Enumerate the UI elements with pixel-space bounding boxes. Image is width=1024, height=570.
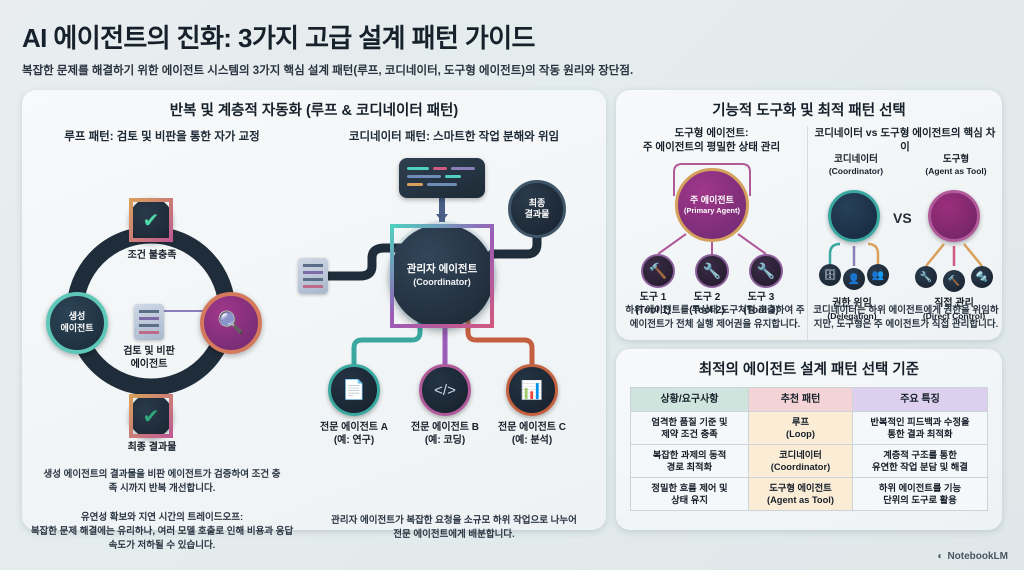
loop-note-2-body: 복잡한 문제 해결에는 유리하나, 여러 모델 호출로 인해 비용과 응답 속도…: [31, 526, 293, 551]
comparison-note: 코디네이터는 하위 에이전트에게 권한을 위임하지만, 도구형은 주 에이전트가…: [812, 304, 1000, 332]
coordinator-label-ko: 관리자 에이전트: [407, 263, 478, 277]
review-magnifier-node: 🔍: [200, 292, 262, 354]
direct-control-sub-icon-2: 🔨: [943, 270, 965, 292]
code-window-icon: </>: [434, 382, 456, 399]
final-output-line-1: 최종: [529, 198, 546, 208]
primary-agent-node: 주 에이전트 (Primary Agent): [675, 168, 749, 242]
coordinator-node: 관리자 에이전트 (Coordinator): [390, 224, 494, 328]
loop-note-2: 유연성 확보와 지연 시간의 트레이드오프: 복잡한 문제 해결에는 유리하나,…: [22, 511, 302, 552]
pattern-selection-table: 상황/요구사항 추천 패턴 주요 특징 엄격한 품질 기준 및 제약 조건 충족: [630, 387, 988, 511]
wrench-icon: 🔧: [703, 262, 722, 280]
tool-agent-note: 하위 에이전트를 무상태 도구처럼 호출하여 주 에이전트가 전체 실행 제어권…: [622, 304, 808, 332]
table-title: 최적의 에이전트 설계 패턴 선택 기준: [616, 349, 1002, 385]
spec-c-line2: (예: 분석): [512, 435, 552, 446]
table-row: 복잡한 과제의 동적 경로 최적화 코디네이터 (Coordinator) 계층…: [630, 445, 987, 478]
r2-s1: 복잡한 과제의 동적: [653, 450, 727, 460]
r1-p2: (Loop): [786, 429, 815, 439]
specialist-agent-a-node: 📄: [328, 364, 380, 416]
row-3-situation: 정밀한 흐름 제어 및 상태 유지: [630, 478, 748, 511]
r1-s1: 엄격한 품질 기준 및: [651, 417, 727, 427]
coordinator-final-output-node: 최종 결과물: [508, 180, 566, 238]
r1-p1: 루프: [792, 417, 809, 427]
r2-s2: 경로 최적화: [667, 462, 712, 472]
table-row: 정밀한 흐름 제어 및 상태 유지 도구형 에이전트 (Agent as Too…: [630, 478, 987, 511]
notebooklm-watermark: ◐ NotebookLM: [937, 551, 1008, 562]
r3-p2: (Agent as Tool): [767, 495, 834, 505]
specialist-agent-c-node: 📊: [506, 364, 558, 416]
row-1-situation: 엄격한 품질 기준 및 제약 조건 충족: [630, 412, 748, 445]
watermark-label: NotebookLM: [947, 551, 1008, 562]
r1-f2: 통한 결과 최적화: [887, 429, 952, 439]
table-panel: 최적의 에이전트 설계 패턴 선택 기준 상황/요구사항 추천 패턴 주요 특징…: [616, 349, 1002, 530]
vs-label: VS: [893, 210, 912, 226]
final-output-line-2: 결과물: [525, 209, 550, 219]
r2-p1: 코디네이터: [779, 450, 822, 460]
final-output-label: 최종 결과물: [102, 442, 202, 455]
tool-3-line1: 도구 3: [748, 292, 775, 303]
r2-f1: 계층적 구조를 통한: [883, 450, 957, 460]
row-1-pattern: 루프 (Loop): [748, 412, 852, 445]
r3-s1: 정밀한 흐름 제어 및: [651, 483, 727, 493]
right-top-panel: 기능적 도구화 및 최적 패턴 선택 도구형 에이전트: 주 에이전트의 평밀한…: [616, 90, 1002, 340]
row-1-feature: 반복적인 피드백과 수정을 통한 결과 최적화: [852, 412, 987, 445]
loop-heading: 루프 패턴: 검토 및 비판을 통한 자가 교정: [22, 128, 302, 144]
hammer-icon: 🔨: [649, 262, 668, 280]
critic-label-2: 에이전트: [131, 359, 168, 370]
direct-control-sub-icon-3: 🔩: [971, 266, 993, 288]
tool-2-node: 🔧: [695, 254, 729, 288]
table-header-feature: 주요 특징: [852, 388, 987, 412]
infographic-page: AI 에이전트의 진화: 3가지 고급 설계 패턴 가이드 복잡한 문제를 해결…: [0, 0, 1024, 570]
comparison-tool-node: [928, 190, 980, 242]
loop-pattern-section: 루프 패턴: 검토 및 비판을 통한 자가 교정 ✔ 조건 불충족: [22, 126, 302, 518]
r3-f1: 하위 에이전트를 기능: [879, 483, 961, 493]
row-2-situation: 복잡한 과제의 동적 경로 최적화: [630, 445, 748, 478]
row-2-pattern: 코디네이터 (Coordinator): [748, 445, 852, 478]
notebooklm-logo-icon: ◐: [937, 551, 943, 562]
r2-p2: (Coordinator): [771, 462, 830, 472]
r3-p1: 도구형 에이전트: [769, 483, 831, 493]
delegation-sub-icon-3: 👥: [867, 264, 889, 286]
task-input-terminal-icon: [399, 158, 485, 198]
coordinator-label-en: (Coordinator): [413, 277, 471, 289]
row-3-feature: 하위 에이전트를 기능 단위의 도구로 활용: [852, 478, 987, 511]
content-columns: 반복 및 계층적 자동화 (루프 & 코디네이터 패턴) 루프 패턴: 검토 및…: [22, 90, 1002, 530]
comparison-coordinator-node: [828, 190, 880, 242]
row-3-pattern: 도구형 에이전트 (Agent as Tool): [748, 478, 852, 511]
bar-chart-icon: 📊: [521, 380, 543, 401]
wrench-icon: 🔧: [757, 262, 776, 280]
generator-label-2: 에이전트: [60, 323, 93, 333]
page-subtitle: 복잡한 문제를 해결하기 위한 에이전트 시스템의 3가지 핵심 설계 패턴(루…: [22, 62, 1002, 78]
tool-3-node: 🔧: [749, 254, 783, 288]
r3-s2: 상태 유지: [671, 495, 708, 505]
right-column: 기능적 도구화 및 최적 패턴 선택 도구형 에이전트: 주 에이전트의 평밀한…: [616, 90, 1002, 530]
condition-fail-label: 조건 불충족: [102, 250, 202, 263]
generator-label-1: 생성: [69, 311, 86, 321]
primary-agent-en: (Primary Agent): [684, 206, 740, 215]
spec-b-line2: (예: 코딩): [425, 435, 465, 446]
specialist-agent-b-label: 전문 에이전트 B (예: 코딩): [395, 422, 495, 447]
document-gear-icon: 📄: [342, 378, 366, 402]
specialist-agent-a-label: 전문 에이전트 A (예: 연구): [304, 422, 404, 447]
spec-a-line1: 전문 에이전트 A: [320, 422, 388, 433]
loop-note-1: 생성 에이전트의 결과물을 비판 에이전트가 검증하여 조건 충족 시까지 반복…: [22, 468, 302, 496]
critic-label-1: 검토 및 비판: [123, 346, 175, 357]
final-output-node: ✔: [129, 394, 173, 438]
delegation-sub-icon-1: 🗄: [819, 264, 841, 286]
request-document-icon: [298, 258, 328, 294]
spec-a-line2: (예: 연구): [334, 435, 374, 446]
critic-agent-label: 검토 및 비판 에이전트: [99, 346, 199, 371]
r3-f2: 단위의 도구로 활용: [883, 495, 957, 505]
coordinator-note: 관리자 에이전트가 복잡한 요청을 소규모 하위 작업으로 나누어 전문 에이전…: [302, 514, 606, 542]
primary-agent-ko: 주 에이전트: [690, 195, 734, 206]
condition-check-node: ✔: [129, 198, 173, 242]
left-panel-body: 루프 패턴: 검토 및 비판을 통한 자가 교정 ✔ 조건 불충족: [22, 126, 606, 518]
loop-note-2-title: 유연성 확보와 지연 시간의 트레이드오프:: [81, 512, 243, 523]
spec-c-line1: 전문 에이전트 C: [498, 422, 566, 433]
table-row: 엄격한 품질 기준 및 제약 조건 충족 루프 (Loop) 반복적인 피드백과…: [630, 412, 987, 445]
table-header-row: 상황/요구사항 추천 패턴 주요 특징: [630, 388, 987, 412]
coordinator-pattern-section: 코디네이터 패턴: 스마트한 작업 분해와 위임: [302, 126, 606, 518]
table-header-pattern: 추천 패턴: [748, 388, 852, 412]
tool-1-line1: 도구 1: [640, 292, 667, 303]
r1-s2: 제약 조건 충족: [661, 429, 718, 439]
critic-document-icon: [134, 304, 164, 340]
generator-agent-node: 생성 에이전트: [46, 292, 108, 354]
left-panel: 반복 및 계층적 자동화 (루프 & 코디네이터 패턴) 루프 패턴: 검토 및…: [22, 90, 606, 530]
direct-control-sub-icon-1: 🔧: [915, 266, 937, 288]
tool-2-line1: 도구 2: [694, 292, 721, 303]
specialist-agent-c-label: 전문 에이전트 C (예: 분석): [482, 422, 582, 447]
delegation-sub-icon-2: 👤: [843, 268, 865, 290]
right-panel-title: 기능적 도구화 및 최적 패턴 선택: [616, 90, 1002, 126]
page-title: AI 에이전트의 진화: 3가지 고급 설계 패턴 가이드: [22, 18, 1002, 55]
specialist-agent-b-node: </>: [419, 364, 471, 416]
left-panel-title: 반복 및 계층적 자동화 (루프 & 코디네이터 패턴): [22, 90, 606, 126]
row-2-feature: 계층적 구조를 통한 유연한 작업 분담 및 해결: [852, 445, 987, 478]
r1-f1: 반복적인 피드백과 수정을: [870, 417, 969, 427]
table-header-situation: 상황/요구사항: [630, 388, 748, 412]
tool-1-node: 🔨: [641, 254, 675, 288]
r2-f2: 유연한 작업 분담 및 해결: [872, 462, 968, 472]
spec-b-line1: 전문 에이전트 B: [411, 422, 479, 433]
